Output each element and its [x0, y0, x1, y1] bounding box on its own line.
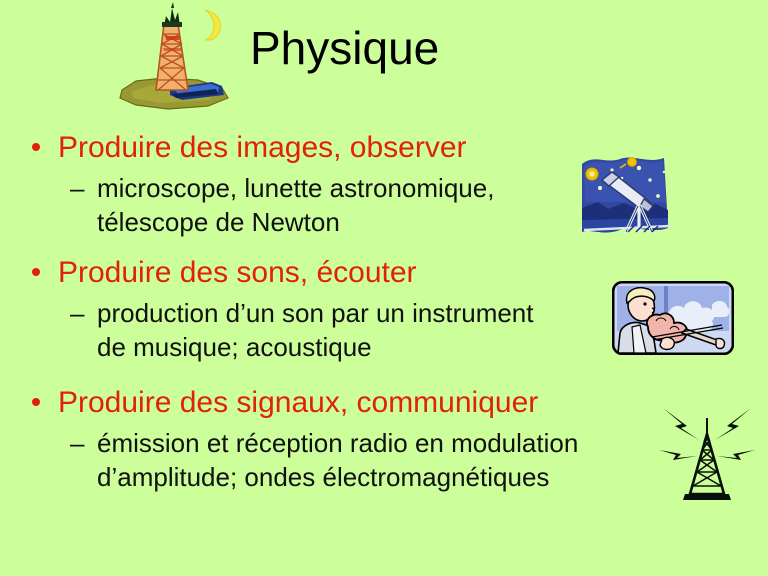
dash-marker-icon: –: [70, 171, 88, 205]
bullet-label: Produire des sons, écouter: [58, 256, 417, 289]
broadcast-antenna-icon: [657, 398, 757, 502]
bullet-label: Produire des signaux, communiquer: [58, 386, 538, 419]
sub-bullet-item: – émission et réception radio en modulat…: [0, 426, 700, 494]
bullet-label: Produire des images, observer: [58, 131, 467, 164]
crescent-moon-icon: [196, 8, 226, 42]
bullet-dot-icon: [32, 268, 40, 276]
title-row: Physique: [0, 0, 768, 118]
telescope-icon: [578, 152, 674, 242]
violinist-icon: [612, 281, 734, 355]
sub-bullet-line: émission et réception radio en modulatio…: [97, 426, 700, 460]
sub-bullet-line: de musique; acoustique: [97, 330, 700, 364]
sub-bullet-item: – production d’un son par un instrument …: [0, 296, 700, 364]
sub-bullet-line: d’amplitude; ondes électromagnétiques: [97, 460, 700, 494]
bullet-dot-icon: [32, 398, 40, 406]
bullet-group: Produire des sons, écouter – production …: [0, 255, 700, 364]
dash-marker-icon: –: [70, 296, 88, 330]
sub-bullet-line: production d’un son par un instrument: [97, 296, 700, 330]
bullet-group: Produire des signaux, communiquer – émis…: [0, 385, 700, 494]
page-title: Physique: [250, 22, 550, 74]
dash-marker-icon: –: [70, 426, 88, 460]
bullet-item-primary: Produire des sons, écouter: [0, 255, 700, 291]
bullet-item-primary: Produire des signaux, communiquer: [0, 385, 700, 421]
slide-canvas: Physique Produire des images, observer –…: [0, 0, 768, 576]
bullet-dot-icon: [32, 143, 40, 151]
